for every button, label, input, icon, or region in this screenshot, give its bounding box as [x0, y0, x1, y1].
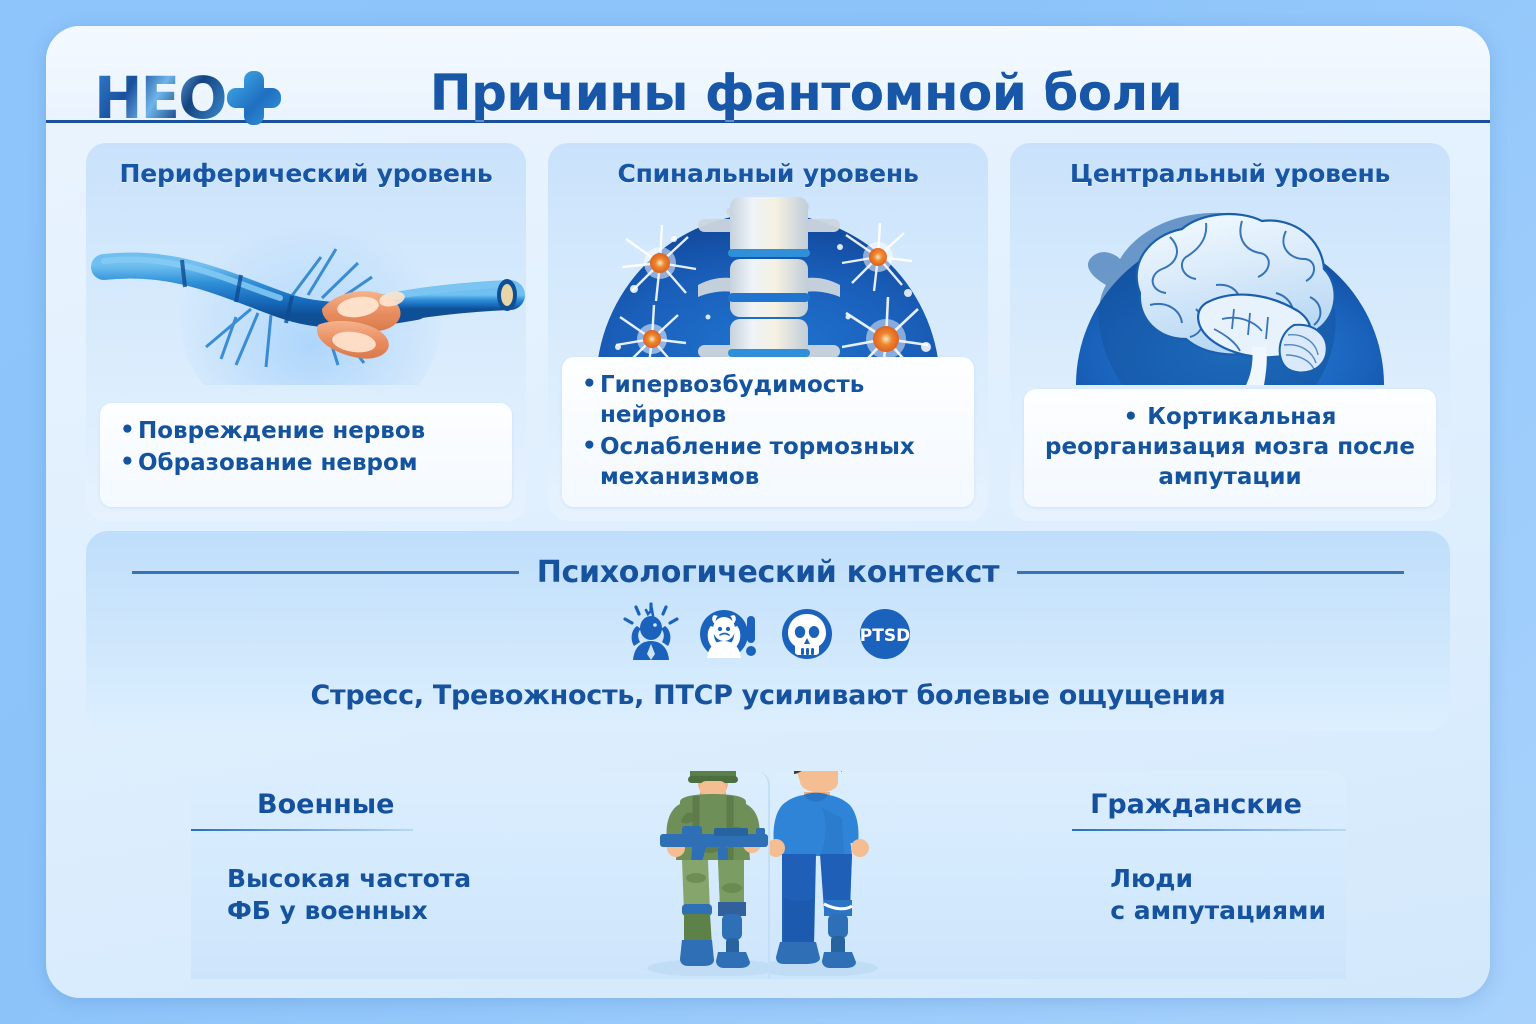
group-divider-military	[191, 829, 413, 831]
stress-person-icon	[619, 602, 683, 666]
level-title-central: Центральный уровень	[1010, 159, 1450, 188]
divider-left	[132, 571, 519, 574]
brain-head-illustration	[1010, 197, 1450, 385]
skull-icon	[775, 602, 839, 666]
ptsd-label: PTSD	[860, 626, 910, 646]
group-text-line: ФБ у военных	[227, 895, 471, 927]
group-text-line: Люди	[1110, 863, 1326, 895]
soldier-with-prosthetic-leg-figure	[618, 771, 770, 979]
level-card-spinal: Спинальный уровень	[548, 143, 988, 521]
group-divider-civilian	[1072, 829, 1346, 831]
group-text-civilian: Люди с ампутациями	[1110, 863, 1326, 927]
brand-logo-text: HEO	[94, 69, 225, 127]
bullet-item: Повреждение нервов	[116, 417, 496, 447]
psychological-context-section: Психологический контекст	[86, 531, 1450, 731]
psychological-context-caption: Стресс, Тревожность, ПТСР усиливают боле…	[86, 680, 1450, 711]
bullets-central: Кортикальная реорганизация мозга после а…	[1024, 389, 1436, 507]
poster-header: HEO Причины фантомной боли	[46, 26, 1490, 123]
bullet-item: Образование невром	[116, 449, 496, 479]
group-title-civilian: Гражданские	[1090, 789, 1302, 820]
level-title-peripheral: Периферический уровень	[86, 159, 526, 188]
ptsd-badge-icon: PTSD	[853, 602, 917, 666]
damaged-nerve-illustration	[86, 197, 526, 385]
population-groups-row: Военные Высокая частота ФБ у военных	[191, 771, 1346, 979]
bullet-item: Кортикальная реорганизация мозга после а…	[1040, 403, 1420, 493]
plus-icon	[227, 71, 281, 125]
infographic-poster: HEO Причины фантомной боли Периферически…	[46, 26, 1490, 998]
levels-row: Периферический уровень	[86, 143, 1450, 521]
level-card-central: Центральный уровень	[1010, 143, 1450, 521]
divider-right	[1017, 571, 1404, 574]
group-title-military: Военные	[257, 789, 394, 820]
level-card-peripheral: Периферический уровень	[86, 143, 526, 521]
bullets-spinal: Гипервозбудимость нейронов Ослабление то…	[562, 357, 974, 507]
bullet-item: Гипервозбудимость нейронов	[578, 371, 958, 431]
group-military: Военные Высокая частота ФБ у военных	[191, 771, 770, 979]
group-text-military: Высокая частота ФБ у военных	[227, 863, 471, 927]
psychological-context-title: Психологический контекст	[537, 555, 1000, 590]
anxiety-person-exclamation-icon	[697, 602, 761, 666]
group-text-line: Высокая частота	[227, 863, 471, 895]
page-title: Причины фантомной боли	[376, 64, 1236, 122]
psychological-icons-row: PTSD	[86, 602, 1450, 666]
civilian-with-cane-and-prosthetic-leg-figure	[770, 771, 904, 979]
level-title-spinal: Спинальный уровень	[548, 159, 988, 188]
brand-logo: HEO	[94, 68, 281, 128]
psychological-context-heading: Психологический контекст	[86, 531, 1450, 590]
group-text-line: с ампутациями	[1110, 895, 1326, 927]
bullet-item: Ослабление тормозных механизмов	[578, 433, 958, 493]
group-civilian: Гражданские Люди с ампутациями	[770, 771, 1347, 979]
bullets-peripheral: Повреждение нервов Образование невром	[100, 403, 512, 507]
